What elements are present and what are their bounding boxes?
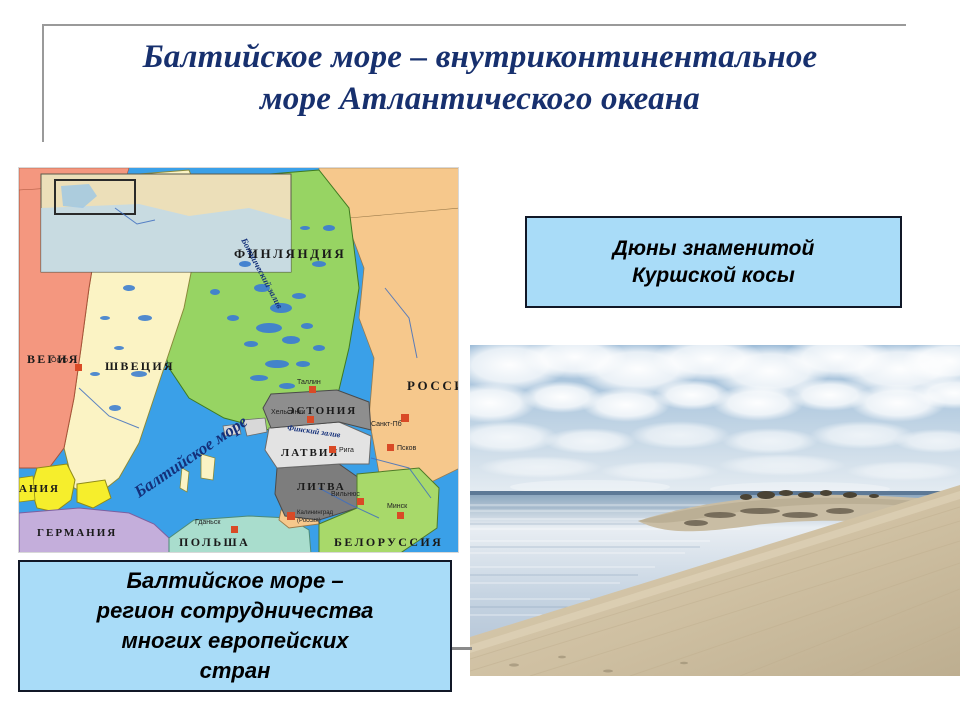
svg-text:БЕЛОРУССИЯ: БЕЛОРУССИЯ bbox=[334, 535, 443, 549]
svg-text:Санкт-Пб: Санкт-Пб bbox=[371, 420, 402, 428]
svg-text:Таллин: Таллин bbox=[297, 379, 321, 386]
svg-text:(Россия): (Россия) bbox=[297, 518, 321, 524]
svg-text:Калининград: Калининград bbox=[297, 510, 334, 516]
svg-text:ШВЕЦИЯ: ШВЕЦИЯ bbox=[105, 359, 175, 373]
caption-dunes[interactable]: Дюны знаменитой Куршской косы bbox=[525, 216, 902, 308]
baltic-region-map[interactable]: ВЕГИЯ ШВЕЦИЯ ФИНЛЯНДИЯ РОССИЯ ЭСТОНИЯ ЛА… bbox=[18, 167, 459, 553]
caption-connector-line bbox=[452, 647, 472, 650]
svg-text:Хельсинки: Хельсинки bbox=[271, 409, 305, 416]
svg-text:ГЕРМАНИЯ: ГЕРМАНИЯ bbox=[37, 527, 117, 539]
svg-text:Осло: Осло bbox=[51, 357, 68, 364]
svg-text:Псков: Псков bbox=[397, 445, 417, 452]
page-title: Балтийское море – внутриконтинентальное … bbox=[30, 36, 930, 120]
svg-text:Вильнюс: Вильнюс bbox=[331, 491, 360, 498]
curonian-spit-dune-photo[interactable] bbox=[470, 345, 960, 676]
caption-cooperation[interactable]: Балтийское море – регион сотрудничества … bbox=[18, 560, 452, 692]
svg-text:РОССИЯ: РОССИЯ bbox=[407, 378, 459, 393]
svg-text:Минск: Минск bbox=[387, 503, 408, 510]
photo-graphic bbox=[470, 345, 960, 676]
svg-text:Рига: Рига bbox=[339, 447, 354, 454]
map-graphic: ВЕГИЯ ШВЕЦИЯ ФИНЛЯНДИЯ РОССИЯ ЭСТОНИЯ ЛА… bbox=[19, 168, 459, 553]
svg-text:Гданьск: Гданьск bbox=[195, 519, 221, 526]
slide-canvas: Балтийское море – внутриконтинентальное … bbox=[0, 0, 960, 720]
svg-text:АНИЯ: АНИЯ bbox=[19, 483, 60, 495]
svg-text:ПОЛЬША: ПОЛЬША bbox=[179, 535, 250, 549]
